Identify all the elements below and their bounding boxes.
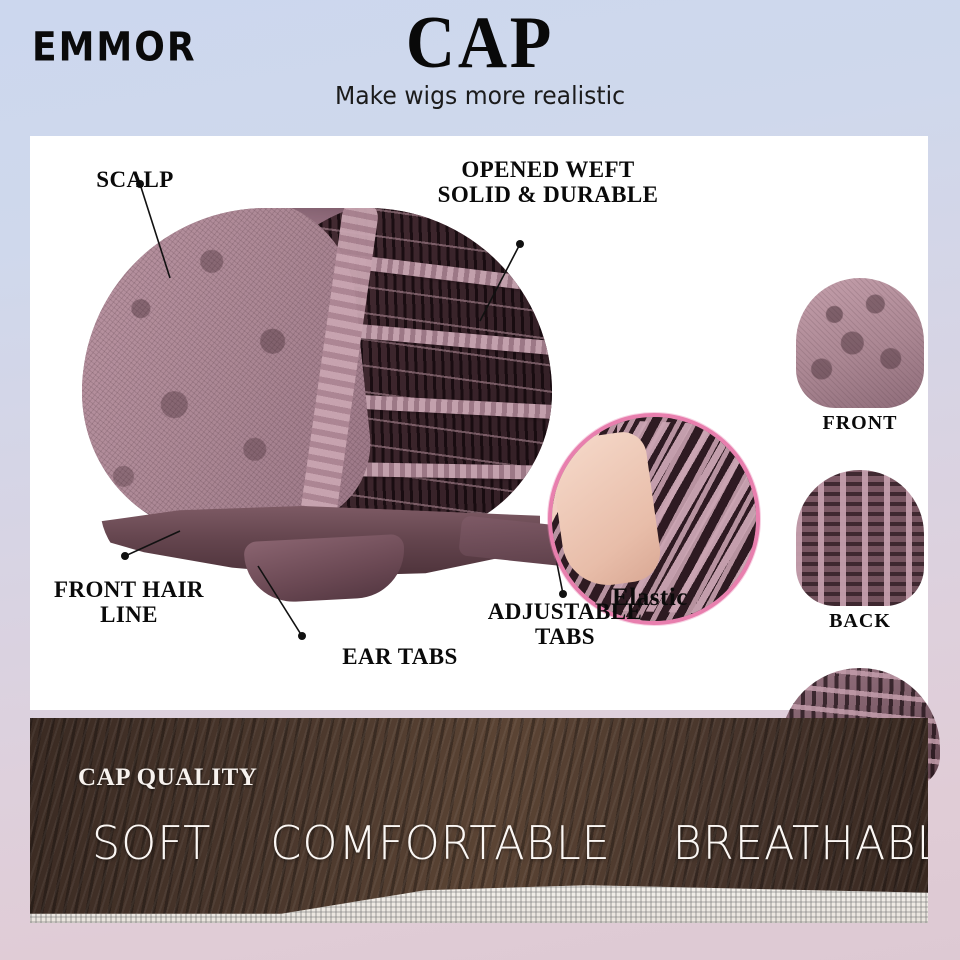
quality-banner: CAP QUALITY SOFT COMFORTABLE BREATHABLE <box>30 718 928 923</box>
lace-mesh-strip <box>30 881 928 923</box>
page-subtitle: Make wigs more realistic <box>29 81 931 110</box>
quality-item-soft: SOFT <box>92 816 211 870</box>
front-view-image <box>796 278 924 408</box>
banner-title: CAP QUALITY <box>78 764 258 792</box>
page-title: CAP <box>38 8 921 79</box>
thumbnail-front: FRONT <box>765 278 955 435</box>
back-view-image <box>796 470 924 606</box>
header: EMMOR CAP Make wigs more realistic <box>0 0 960 132</box>
infographic-root: EMMOR CAP Make wigs more realistic <box>0 0 960 960</box>
quality-list: SOFT COMFORTABLE BREATHABLE <box>90 816 910 870</box>
elastic-label: Elastic <box>548 584 752 612</box>
callout-label-opened-weft: OPENED WEFT SOLID & DURABLE <box>398 158 698 208</box>
quality-item-comfortable: COMFORTABLE <box>270 816 611 870</box>
front-view-label: FRONT <box>765 412 955 435</box>
quality-item-breathable: BREATHABLE <box>673 816 928 870</box>
title-block: CAP Make wigs more realistic <box>0 8 960 110</box>
back-view-label: BACK <box>765 610 955 633</box>
callout-label-front-hair-line: FRONT HAIR LINE <box>14 578 244 628</box>
callout-label-scalp: SCALP <box>50 168 220 193</box>
thumbnail-back: BACK <box>765 470 955 633</box>
